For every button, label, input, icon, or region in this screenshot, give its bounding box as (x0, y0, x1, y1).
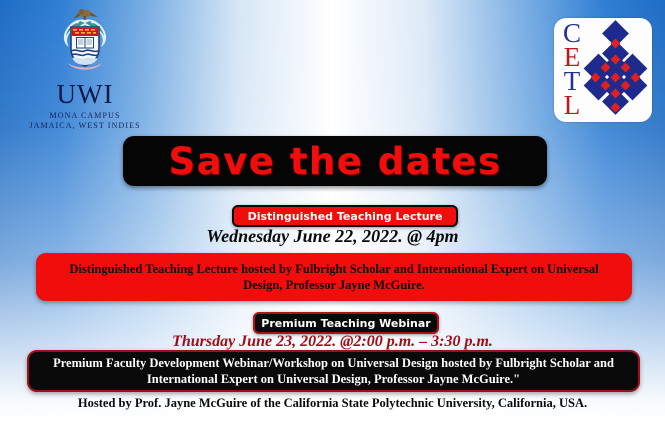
badge-label: Distinguished Teaching Lecture (248, 210, 443, 223)
badge-label: Premium Teaching Webinar (261, 317, 430, 330)
uwi-logo: UWI MONA CAMPUS JAMAICA, WEST INDIES (20, 6, 150, 130)
uwi-campus-label: MONA CAMPUS (20, 111, 150, 120)
event-one-date: Wednesday June 22, 2022. @ 4pm (0, 226, 665, 247)
page-title: Save the dates (169, 140, 502, 183)
save-the-dates-title-bar: Save the dates (123, 136, 547, 186)
cetl-logo: C E T L (554, 18, 652, 122)
badge-premium-teaching-webinar: Premium Teaching Webinar (253, 312, 439, 334)
event-two-date: Thursday June 23, 2022. @2:00 p.m. – 3:3… (0, 333, 665, 351)
event-two-description-text: Premium Faculty Development Webinar/Work… (43, 355, 624, 387)
flyer-canvas: UWI MONA CAMPUS JAMAICA, WEST INDIES C E… (0, 0, 665, 421)
event-two-description: Premium Faculty Development Webinar/Work… (27, 350, 640, 392)
event-one-description-text: Distinguished Teaching Lecture hosted by… (56, 261, 612, 293)
badge-distinguished-teaching-lecture: Distinguished Teaching Lecture (232, 205, 458, 227)
cetl-endless-knot-diamond-icon (580, 20, 650, 125)
uwi-crest-pelican-shield-icon (46, 6, 124, 80)
host-credit: Hosted by Prof. Jayne McGuire of the Cal… (0, 396, 665, 411)
uwi-acronym: UWI (20, 81, 150, 108)
uwi-location-label: JAMAICA, WEST INDIES (20, 121, 150, 130)
event-one-description: Distinguished Teaching Lecture hosted by… (36, 253, 632, 301)
